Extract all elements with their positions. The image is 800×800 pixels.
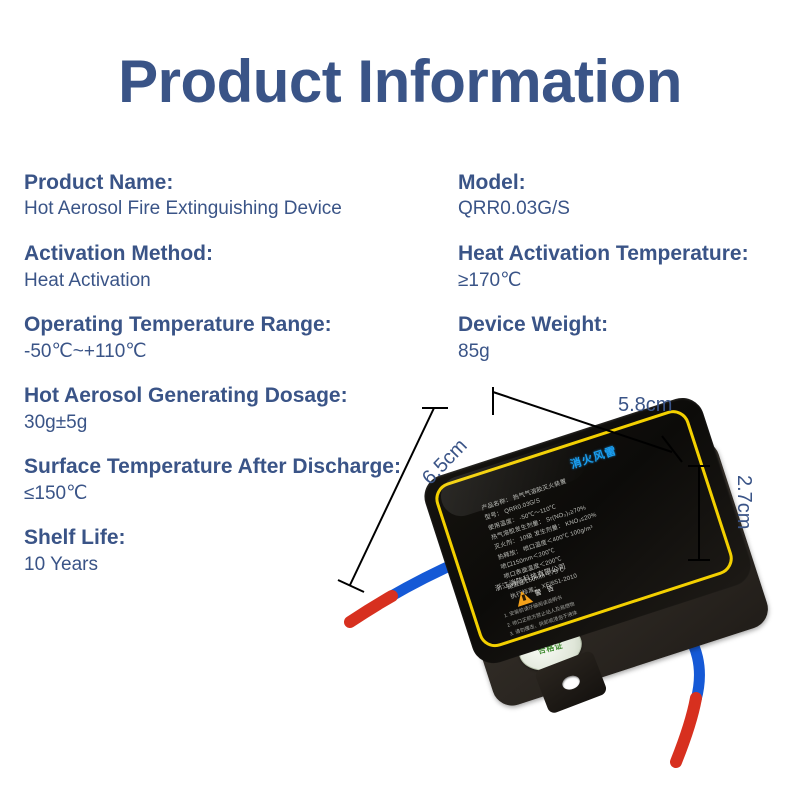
spec-value-activation-method: Heat Activation — [24, 268, 454, 294]
spec-item-model: Model: QRR0.03G/S — [458, 170, 796, 222]
dimension-label-width: 5.8cm — [618, 394, 672, 417]
spec-item-heat-activation-temperature: Heat Activation Temperature: ≥170℃ — [458, 241, 796, 293]
wire-left-red-tip — [350, 596, 392, 622]
spec-value-product-name: Hot Aerosol Fire Extinguishing Device — [24, 196, 454, 222]
spec-label-device-weight: Device Weight: — [458, 312, 796, 338]
spec-label-model: Model: — [458, 170, 796, 196]
spec-item-operating-temperature-range: Operating Temperature Range: -50℃~+110℃ — [24, 312, 454, 364]
product-photo: 合格证 消火风雷 产品名称： 热气气溶胶灭火装置 型号： QRR0.03G/S … — [300, 370, 800, 800]
spec-column-right: Model: QRR0.03G/S Heat Activation Temper… — [458, 170, 796, 364]
dimension-label-height: 2.7cm — [732, 475, 755, 529]
page-title: Product Information — [0, 50, 800, 113]
spec-value-model: QRR0.03G/S — [458, 196, 796, 222]
spec-label-operating-temperature-range: Operating Temperature Range: — [24, 312, 454, 338]
spec-item-activation-method: Activation Method: Heat Activation — [24, 241, 454, 293]
spec-value-operating-temperature-range: -50℃~+110℃ — [24, 339, 454, 365]
spec-value-device-weight: 85g — [458, 339, 796, 365]
spec-item-product-name: Product Name: Hot Aerosol Fire Extinguis… — [24, 170, 454, 222]
spec-label-activation-method: Activation Method: — [24, 241, 454, 267]
spec-label-product-name: Product Name: — [24, 170, 454, 196]
spec-label-heat-activation-temperature: Heat Activation Temperature: — [458, 241, 796, 267]
spec-value-heat-activation-temperature: ≥170℃ — [458, 268, 796, 294]
wire-right-red-tip — [676, 698, 696, 762]
mounting-hole-icon — [560, 673, 581, 692]
spec-item-device-weight: Device Weight: 85g — [458, 312, 796, 364]
